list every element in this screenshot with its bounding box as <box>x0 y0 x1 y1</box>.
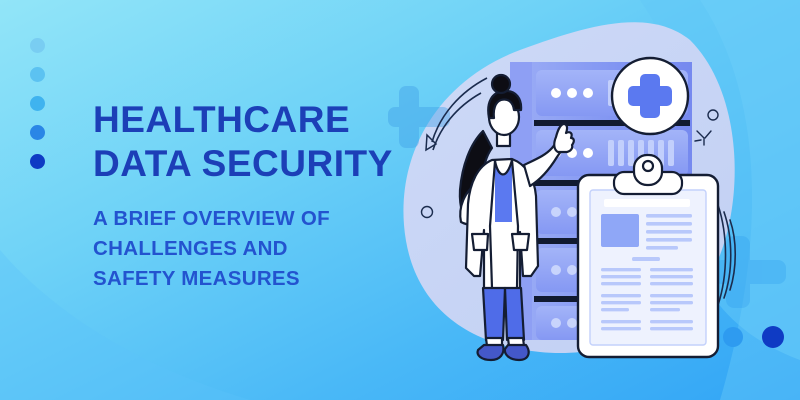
subtitle-line-1: A BRIEF OVERVIEW OF <box>93 204 393 234</box>
dot-column-item-3 <box>30 96 45 111</box>
subtitle-line-2: CHALLENGES AND <box>93 234 393 264</box>
text-block: HEALTHCARE DATA SECURITY A BRIEF OVERVIE… <box>93 98 393 294</box>
title-line-2: DATA SECURITY <box>93 142 393 186</box>
page-title: HEALTHCARE DATA SECURITY <box>93 98 393 186</box>
corner-dot-2 <box>762 326 784 348</box>
dot-column <box>30 38 45 183</box>
dot-column-item-1 <box>30 38 45 53</box>
page-subtitle: A BRIEF OVERVIEW OF CHALLENGES AND SAFET… <box>93 204 393 294</box>
subtitle-line-3: SAFETY MEASURES <box>93 264 393 294</box>
corner-dot-1 <box>723 327 743 347</box>
dot-column-item-4 <box>30 125 45 140</box>
healthcare-data-security-banner: HEALTHCARE DATA SECURITY A BRIEF OVERVIE… <box>0 0 800 400</box>
dot-column-item-2 <box>30 67 45 82</box>
dot-column-item-5 <box>30 154 45 169</box>
title-line-1: HEALTHCARE <box>93 98 393 142</box>
